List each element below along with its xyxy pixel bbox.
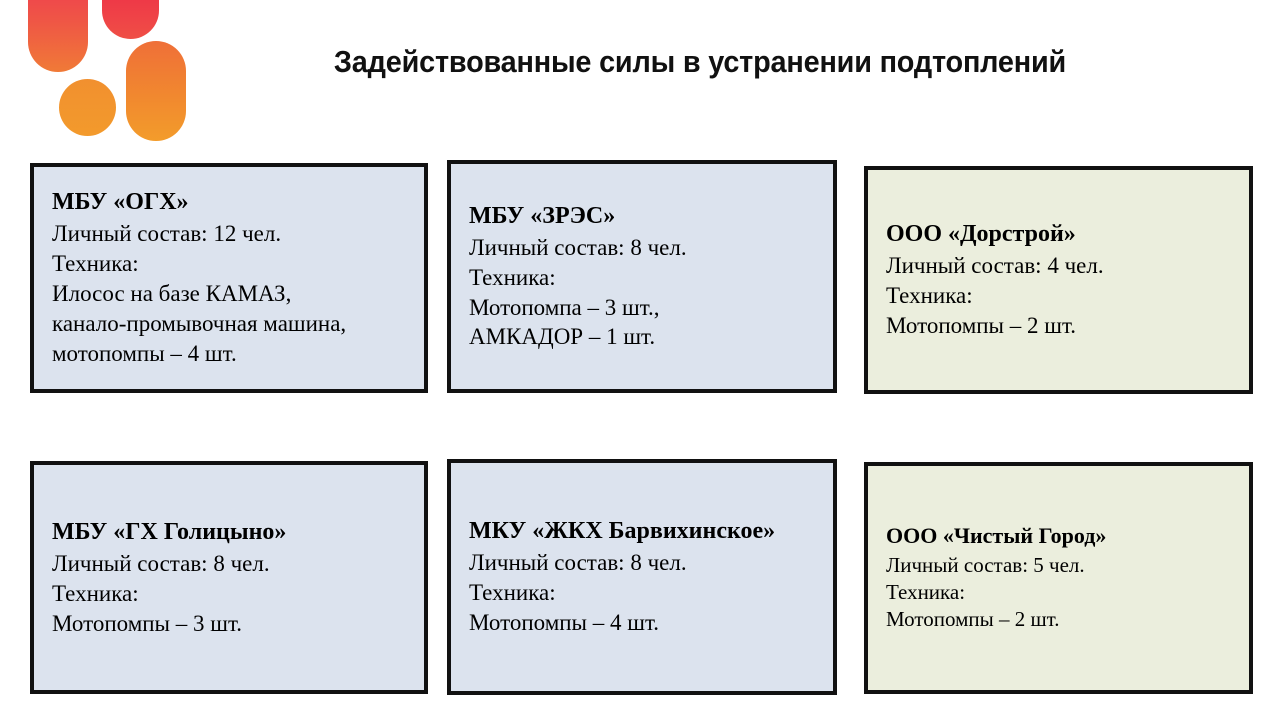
card-barvikha-line-2: Техника: <box>469 578 815 608</box>
card-ogh-line-3: Илосос на базе КАМАЗ, <box>52 279 406 309</box>
card-barvikha-line-3: Мотопомпы – 4 шт. <box>469 608 815 638</box>
page-title: Задействованные силы в устранении подтоп… <box>249 44 1151 80</box>
card-ogh-line-2: Техника: <box>52 249 406 279</box>
card-golicyno-title: МБУ «ГХ Голицыно» <box>52 517 406 548</box>
card-chistygorod-line-2: Техника: <box>886 579 1231 606</box>
card-zres-line-1: Личный состав: 8 чел. <box>469 233 815 263</box>
card-barvikha-title: МКУ «ЖКХ Барвихинское» <box>469 516 815 547</box>
card-zres-line-3: Мотопомпа – 3 шт., <box>469 293 815 323</box>
logo <box>28 0 188 135</box>
card-dorstroy-line-1: Личный состав: 4 чел. <box>886 251 1231 281</box>
card-golicyno: МБУ «ГХ Голицыно» Личный состав: 8 чел. … <box>30 461 428 694</box>
card-chistygorod-title: ООО «Чистый Город» <box>886 522 1231 551</box>
card-golicyno-line-3: Мотопомпы – 3 шт. <box>52 609 406 639</box>
card-chistygorod-line-1: Личный состав: 5 чел. <box>886 552 1231 579</box>
card-zres-line-2: Техника: <box>469 263 815 293</box>
card-chistygorod-line-3: Мотопомпы – 2 шт. <box>886 606 1231 633</box>
card-golicyno-line-2: Техника: <box>52 579 406 609</box>
card-ogh-title: МБУ «ОГХ» <box>52 187 406 218</box>
card-chistygorod: ООО «Чистый Город» Личный состав: 5 чел.… <box>864 462 1253 694</box>
card-zres-line-4: АМКАДОР – 1 шт. <box>469 322 815 352</box>
card-ogh-line-5: мотопомпы – 4 шт. <box>52 339 406 369</box>
logo-short-bar-icon <box>102 0 159 39</box>
card-ogh-line-4: канало-промывочная машина, <box>52 309 406 339</box>
card-golicyno-line-1: Личный состав: 8 чел. <box>52 549 406 579</box>
card-zres: МБУ «ЗРЭС» Личный состав: 8 чел. Техника… <box>447 160 837 393</box>
logo-circle-icon <box>59 79 116 136</box>
logo-tall-bar-icon <box>28 0 88 72</box>
card-dorstroy-line-3: Мотопомпы – 2 шт. <box>886 311 1231 341</box>
card-dorstroy-line-2: Техника: <box>886 281 1231 311</box>
card-barvikha-line-1: Личный состав: 8 чел. <box>469 548 815 578</box>
card-dorstroy-title: ООО «Дорстрой» <box>886 219 1231 250</box>
card-ogh-line-1: Личный состав: 12 чел. <box>52 219 406 249</box>
card-zres-title: МБУ «ЗРЭС» <box>469 201 815 232</box>
card-ogh: МБУ «ОГХ» Личный состав: 12 чел. Техника… <box>30 163 428 393</box>
logo-pill-icon <box>126 41 186 141</box>
card-dorstroy: ООО «Дорстрой» Личный состав: 4 чел. Тех… <box>864 166 1253 394</box>
card-barvikha: МКУ «ЖКХ Барвихинское» Личный состав: 8 … <box>447 459 837 695</box>
